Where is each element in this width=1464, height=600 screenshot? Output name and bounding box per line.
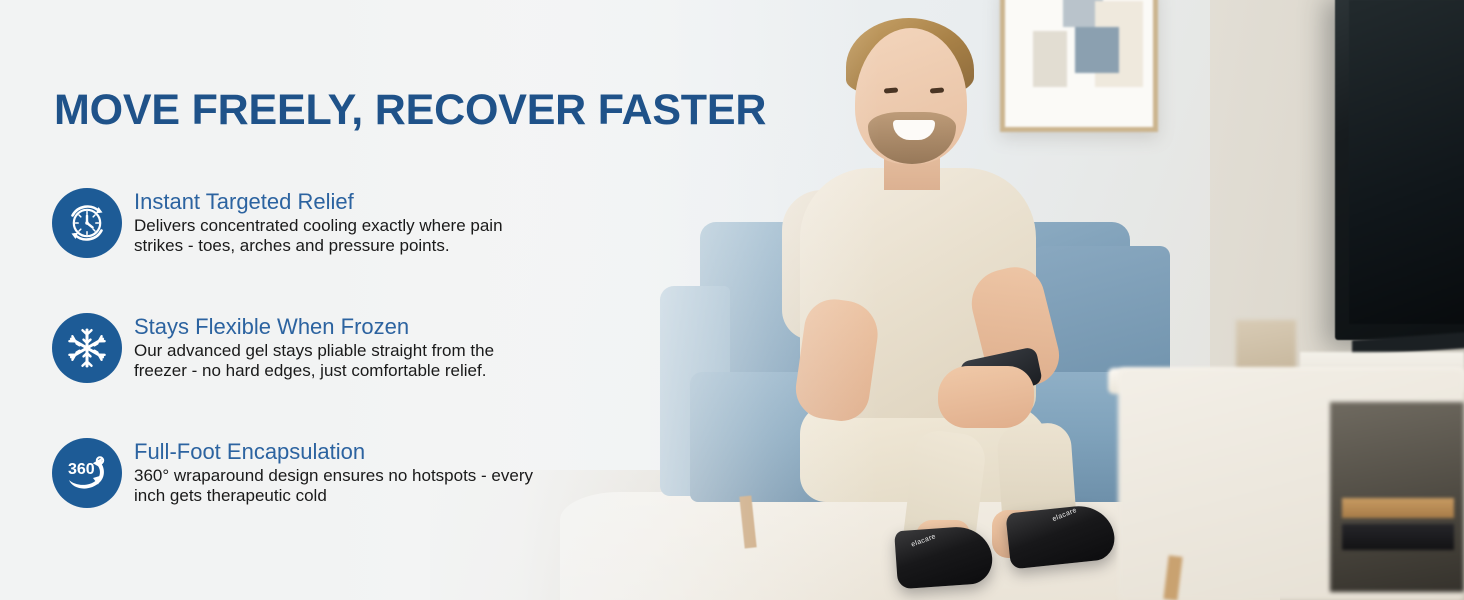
feature-title: Full-Foot Encapsulation (134, 440, 592, 465)
feature-item-instant-relief: Instant Targeted Relief Delivers concent… (52, 188, 592, 266)
snowflake-icon (52, 313, 122, 383)
clock-refresh-icon (52, 188, 122, 258)
art-square (1075, 27, 1119, 73)
television (1335, 0, 1464, 340)
product-feature-banner: elacare elacare MOVE FREELY, RECOVER FAS… (0, 0, 1464, 600)
cooling-toe-sock-left: elacare (894, 525, 994, 590)
feature-list: Instant Targeted Relief Delivers concent… (52, 188, 592, 516)
360-degree-icon: 360 (52, 438, 122, 508)
art-square (1033, 31, 1067, 87)
framed-wall-art (1000, 0, 1158, 132)
icon-360-text: 360 (68, 461, 95, 478)
page-title: MOVE FREELY, RECOVER FASTER (54, 86, 766, 135)
shelf-book (1342, 498, 1454, 518)
feature-title: Stays Flexible When Frozen (134, 315, 592, 340)
content-panel: MOVE FREELY, RECOVER FASTER (0, 0, 620, 600)
feature-description: Our advanced gel stays pliable straight … (134, 341, 544, 382)
feature-item-full-foot: 360 Full-Foot Encapsulation 360° wraparo… (52, 438, 592, 516)
product-logo: elacare (1051, 507, 1078, 523)
feature-text: Stays Flexible When Frozen Our advanced … (134, 313, 592, 382)
feature-text: Instant Targeted Relief Delivers concent… (134, 188, 592, 257)
feature-title: Instant Targeted Relief (134, 190, 592, 215)
feature-description: Delivers concentrated cooling exactly wh… (134, 216, 544, 257)
cooling-toe-sock-right: elacare (1005, 503, 1116, 570)
person-hands (938, 366, 1034, 428)
feature-description: 360° wraparound design ensures no hotspo… (134, 466, 544, 507)
feature-item-stays-flexible: Stays Flexible When Frozen Our advanced … (52, 313, 592, 391)
feature-text: Full-Foot Encapsulation 360° wraparound … (134, 438, 592, 507)
shelf-book (1342, 524, 1454, 550)
product-logo: elacare (910, 533, 937, 548)
tv-screen (1349, 0, 1464, 324)
coffee-table-shelf (1330, 402, 1464, 592)
